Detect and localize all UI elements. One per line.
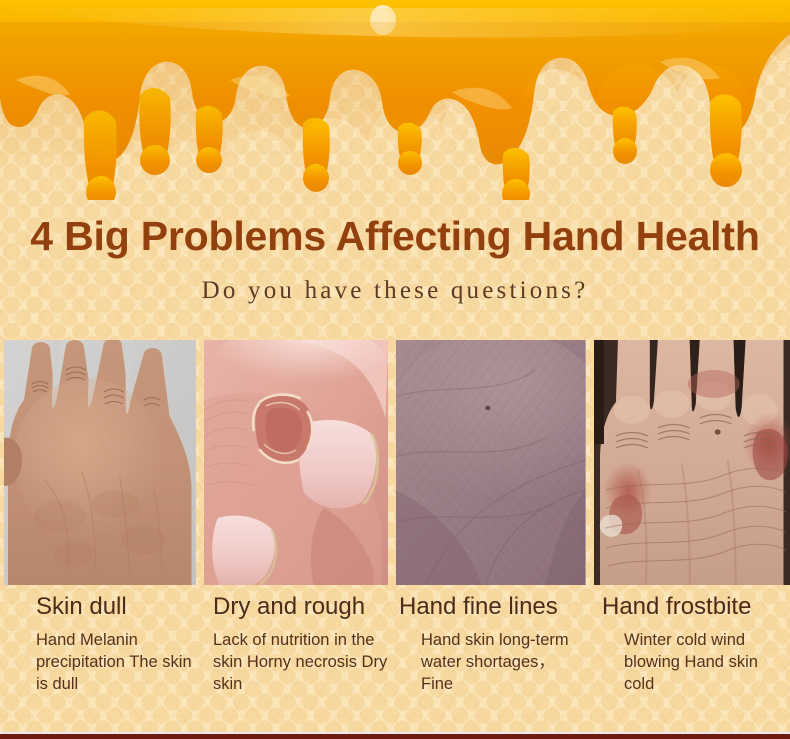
problem-body-1: Hand Melanin precipitation The skin is d… bbox=[36, 629, 200, 695]
page-root: 4 Big Problems Affecting Hand Health Do … bbox=[0, 0, 790, 739]
problem-body-2: Lack of nutrition in the skin Horny necr… bbox=[213, 629, 396, 695]
bottom-trim bbox=[0, 734, 790, 739]
problem-photo-frostbite bbox=[594, 340, 790, 585]
problem-caption-4: Hand frostbite Winter cold wind blowing … bbox=[591, 592, 790, 732]
problem-caption-2: Dry and rough Lack of nutrition in the s… bbox=[200, 592, 396, 732]
problem-heading-1: Skin dull bbox=[36, 592, 200, 622]
problem-photo-strip bbox=[4, 340, 790, 585]
problem-photo-dry-rough bbox=[204, 340, 389, 585]
problem-body-4: Winter cold wind blowing Hand skin cold bbox=[602, 629, 790, 695]
problem-heading-3: Hand fine lines bbox=[399, 592, 591, 622]
page-subtitle: Do you have these questions? bbox=[0, 277, 790, 305]
honey-drip-banner bbox=[0, 0, 790, 200]
problem-photo-fine-lines bbox=[396, 340, 586, 585]
problem-body-3: Hand skin long-term water shortages， Fin… bbox=[399, 629, 591, 695]
problem-captions: Skin dull Hand Melanin precipitation The… bbox=[0, 592, 790, 732]
problem-photo-skin-dull bbox=[4, 340, 196, 585]
page-title: 4 Big Problems Affecting Hand Health bbox=[0, 213, 790, 260]
problem-caption-3: Hand fine lines Hand skin long-term wate… bbox=[396, 592, 591, 732]
problem-heading-4: Hand frostbite bbox=[602, 592, 790, 622]
problem-caption-1: Skin dull Hand Melanin precipitation The… bbox=[0, 592, 200, 732]
problem-heading-2: Dry and rough bbox=[213, 592, 396, 622]
